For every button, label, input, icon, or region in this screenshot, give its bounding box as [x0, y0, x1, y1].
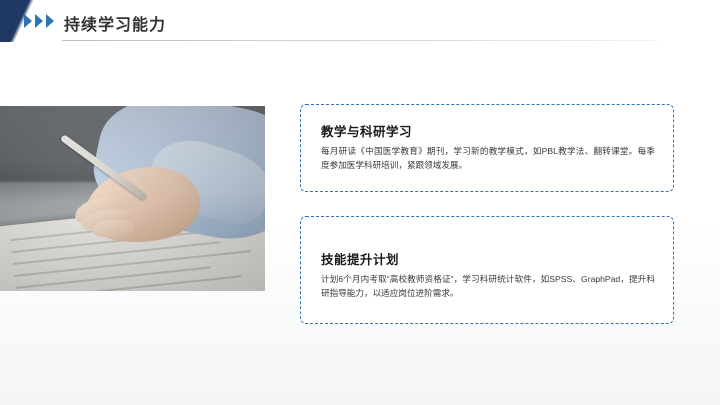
- page-title: 持续学习能力: [64, 11, 166, 35]
- header-divider: [62, 40, 658, 41]
- chevron-right-icon: [35, 14, 43, 28]
- slide: 持续学习能力 教学与科研学习 每月研读《中国医学教育》期刊，学习新的教学模式，如…: [0, 0, 720, 405]
- card-skill-improvement: 技能提升计划 计划6个月内考取“高校教师资格证”，学习科研统计软件，如SPSS、…: [300, 216, 674, 324]
- card-title: 教学与科研学习: [321, 121, 412, 140]
- photo-vignette: [0, 106, 265, 291]
- double-chevron-right-icon: [24, 14, 54, 28]
- card-title: 技能提升计划: [321, 249, 399, 268]
- chevron-right-icon: [24, 14, 32, 28]
- chevron-right-icon: [46, 14, 54, 28]
- card-teaching-research: 教学与科研学习 每月研读《中国医学教育》期刊，学习新的教学模式，如PBL教学法、…: [300, 104, 674, 192]
- card-body: 每月研读《中国医学教育》期刊，学习新的教学模式，如PBL教学法、翻转课堂。每季度…: [321, 145, 655, 173]
- slide-header: 持续学习能力: [0, 0, 720, 46]
- hand-writing-photo: [0, 106, 265, 291]
- card-body: 计划6个月内考取“高校教师资格证”，学习科研统计软件，如SPSS、GraphPa…: [321, 273, 655, 301]
